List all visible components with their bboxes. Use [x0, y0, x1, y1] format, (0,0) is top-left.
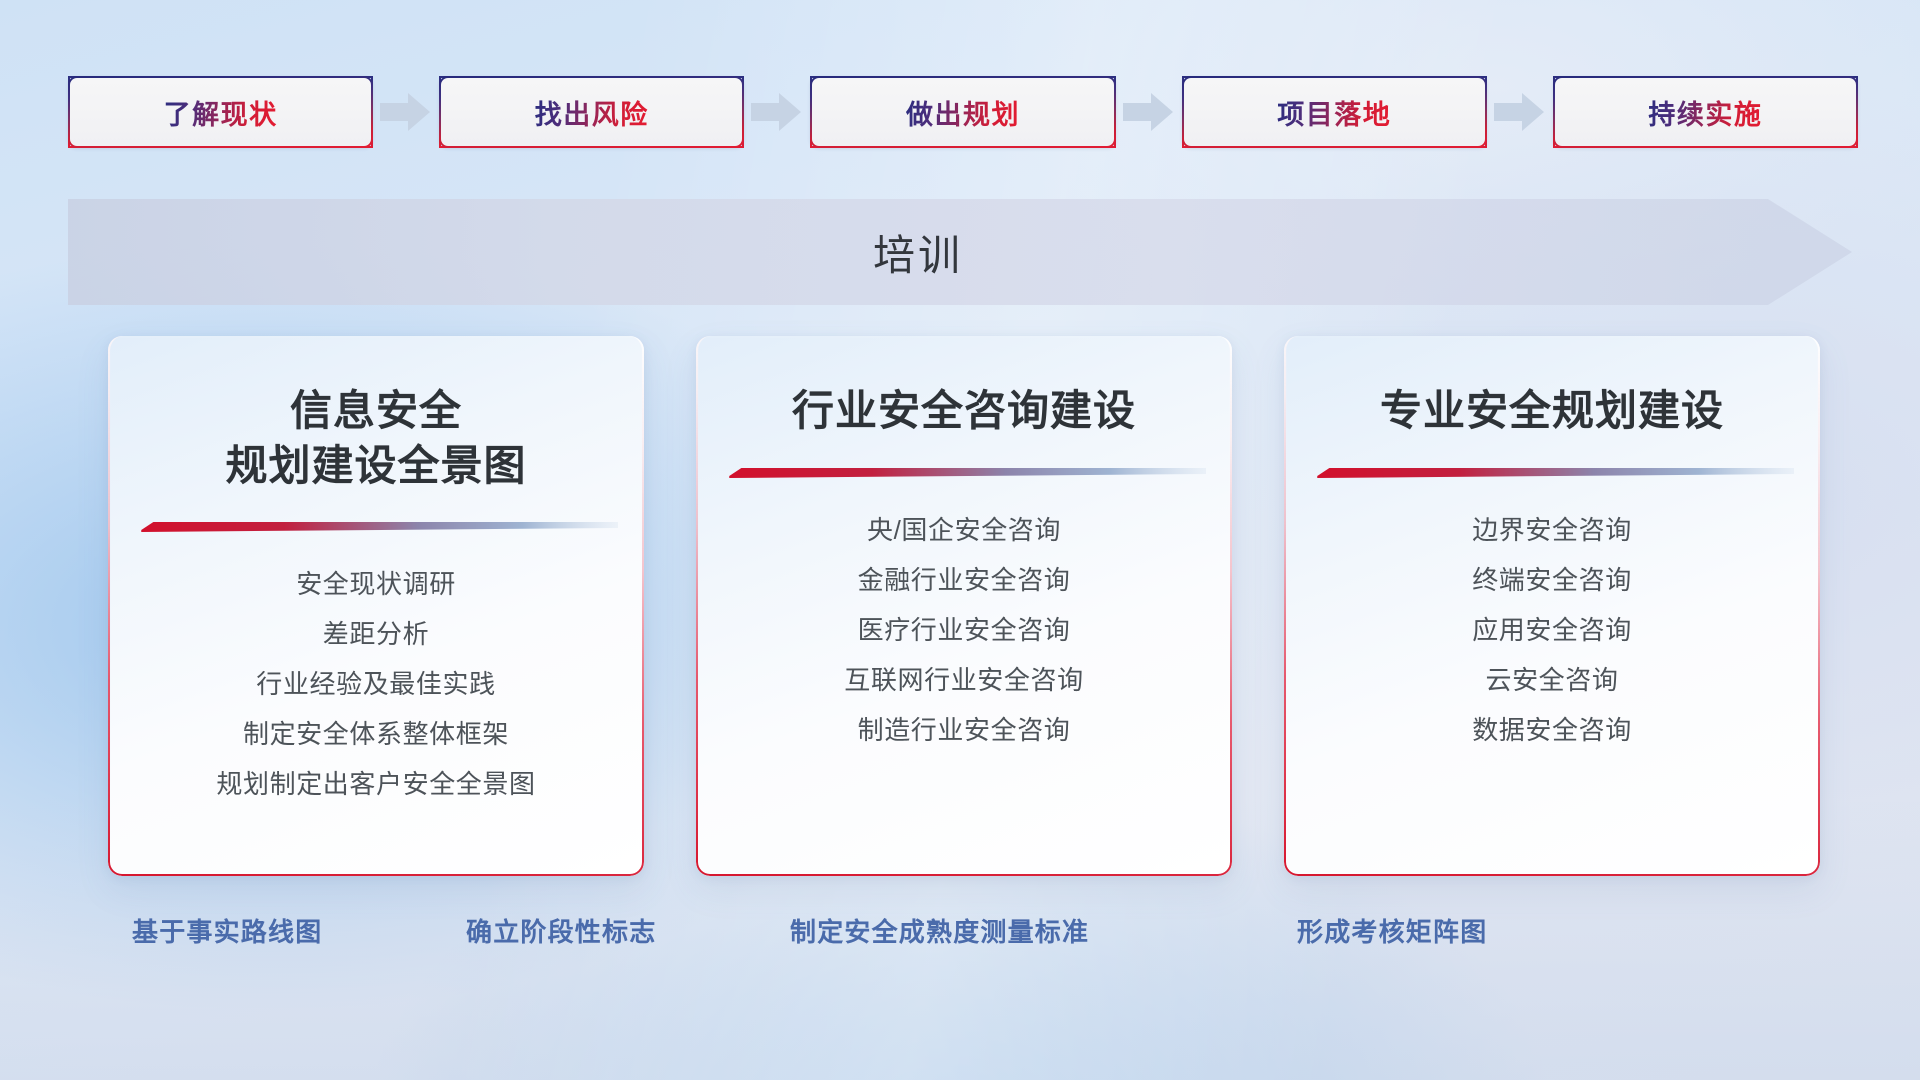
list-item: 制定安全体系整体框架 [243, 709, 509, 759]
caption-milestones: 确立阶段性标志 [466, 912, 656, 949]
card-information-security-blueprint[interactable]: 信息安全 规划建设全景图 安全现状调研 差距分析 行业经验及最佳实践 [108, 336, 644, 876]
arrow-right-icon [378, 89, 434, 135]
list-item: 互联网行业安全咨询 [844, 655, 1083, 705]
cards-row: 信息安全 规划建设全景图 安全现状调研 差距分析 行业经验及最佳实践 [108, 336, 1820, 876]
list-item: 终端安全咨询 [1472, 555, 1632, 605]
list-item: 制造行业安全咨询 [858, 705, 1071, 755]
step-label: 持续实施 [1648, 93, 1762, 132]
card-title: 专业安全规划建设 [1380, 384, 1724, 439]
card-title: 行业安全咨询建设 [792, 384, 1136, 439]
card-divider [134, 519, 618, 535]
list-item: 金融行业安全咨询 [858, 555, 1071, 605]
step-label: 做出规划 [906, 93, 1020, 132]
card-divider [1310, 465, 1794, 481]
process-steps-row: 了解现状 找出风险 做出规划 项目落地 持续实施 [68, 76, 1858, 148]
list-item: 行业经验及最佳实践 [256, 659, 495, 709]
list-item: 央/国企安全咨询 [867, 505, 1061, 555]
caption-roadmap: 基于事实路线图 [132, 912, 322, 949]
step-box-4[interactable]: 项目落地 [1182, 76, 1487, 148]
step-box-2[interactable]: 找出风险 [439, 76, 744, 148]
list-item: 应用安全咨询 [1472, 605, 1632, 655]
list-item: 差距分析 [323, 609, 429, 659]
list-item: 规划制定出客户安全全景图 [216, 759, 535, 809]
step-box-1[interactable]: 了解现状 [68, 76, 373, 148]
list-item: 云安全咨询 [1485, 655, 1618, 705]
card-item-list: 边界安全咨询 终端安全咨询 应用安全咨询 云安全咨询 数据安全咨询 [1310, 505, 1794, 755]
list-item: 边界安全咨询 [1472, 505, 1632, 555]
step-label: 找出风险 [535, 93, 649, 132]
step-label: 了解现状 [164, 93, 278, 132]
training-banner: 培训 [68, 199, 1852, 305]
caption-matrix: 形成考核矩阵图 [1297, 912, 1487, 949]
arrow-right-icon [1492, 89, 1548, 135]
list-item: 数据安全咨询 [1472, 705, 1632, 755]
caption-maturity: 制定安全成熟度测量标准 [790, 912, 1089, 949]
card-industry-security-consulting[interactable]: 行业安全咨询建设 央/国企安全咨询 金融行业安全咨询 医疗行业安全咨询 [696, 336, 1232, 876]
step-box-5[interactable]: 持续实施 [1553, 76, 1858, 148]
captions-row: 基于事实路线图 确立阶段性标志 制定安全成熟度测量标准 形成考核矩阵图 [0, 912, 1920, 962]
step-label: 项目落地 [1277, 93, 1391, 132]
step-box-3[interactable]: 做出规划 [810, 76, 1115, 148]
arrow-right-icon [749, 89, 805, 135]
list-item: 医疗行业安全咨询 [858, 605, 1071, 655]
card-item-list: 央/国企安全咨询 金融行业安全咨询 医疗行业安全咨询 互联网行业安全咨询 制造行… [722, 505, 1206, 755]
card-professional-security-planning[interactable]: 专业安全规划建设 边界安全咨询 终端安全咨询 应用安全咨询 云安全 [1284, 336, 1820, 876]
card-divider [722, 465, 1206, 481]
list-item: 安全现状调研 [296, 559, 456, 609]
training-label: 培训 [68, 199, 1768, 305]
card-title: 信息安全 规划建设全景图 [225, 384, 526, 493]
card-item-list: 安全现状调研 差距分析 行业经验及最佳实践 制定安全体系整体框架 规划制定出客户… [134, 559, 618, 809]
arrow-right-icon [1121, 89, 1177, 135]
